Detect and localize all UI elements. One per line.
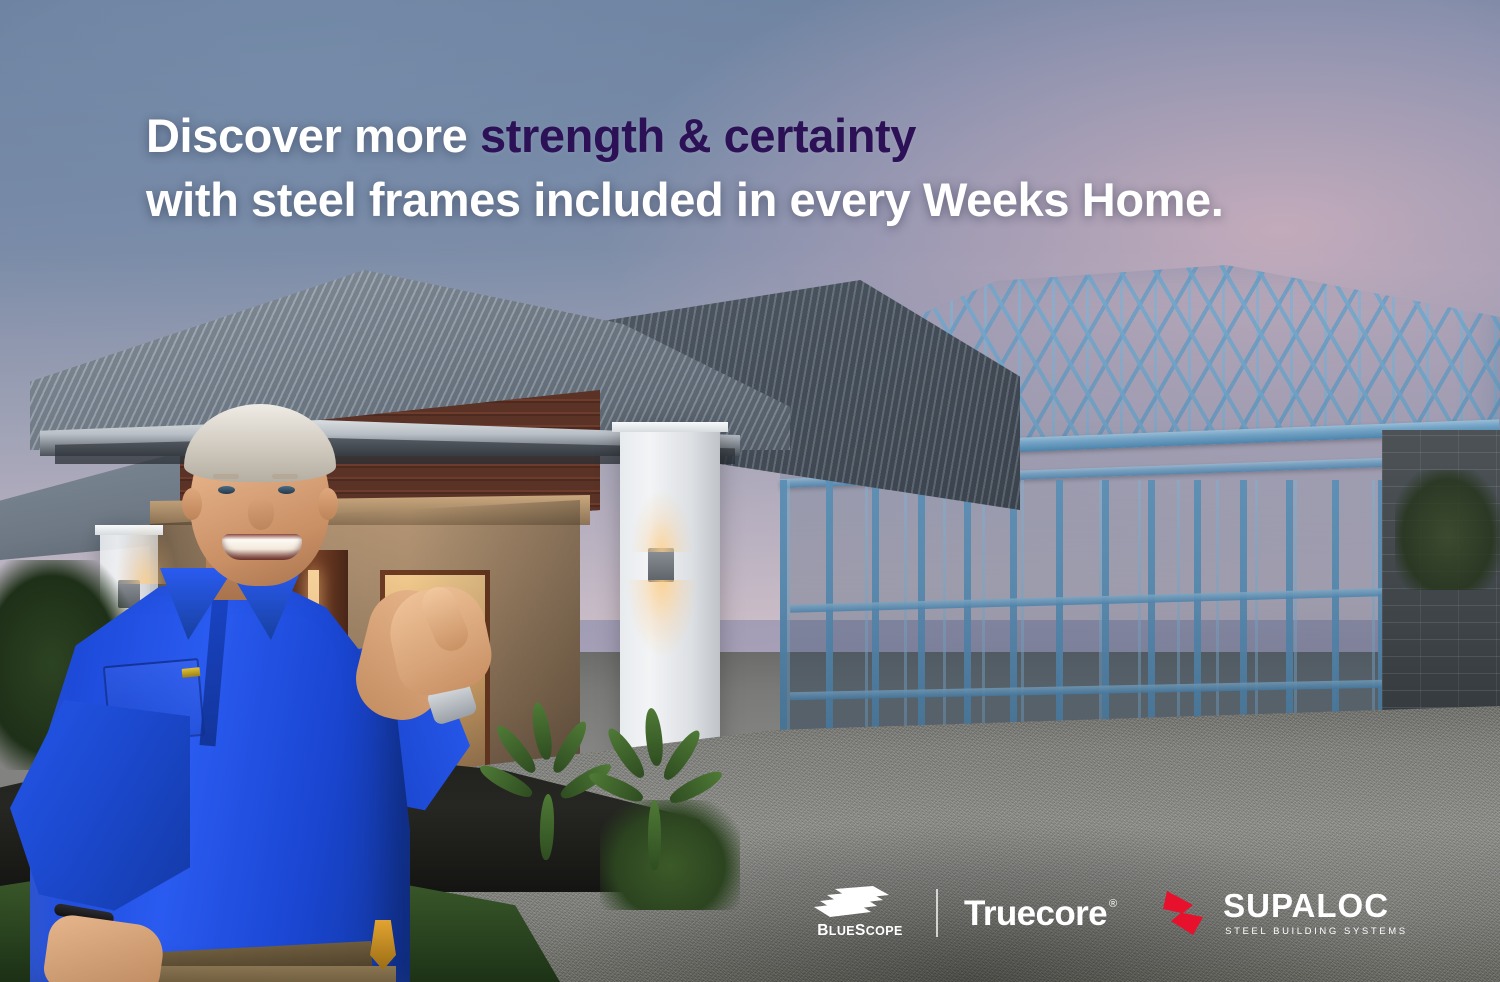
feature-plant-right — [596, 700, 726, 870]
supaloc-text-block: SUPALOC STEEL BUILDING SYSTEMS — [1223, 889, 1408, 937]
headline-line-1: Discover more strength & certainty — [146, 104, 1366, 168]
eyebrow-right — [272, 474, 298, 479]
advertisement-banner: Discover more strength & certainty with … — [0, 0, 1500, 982]
shirt-brand-tag — [182, 667, 201, 678]
supaloc-wordmark: SUPALOC — [1223, 889, 1408, 922]
headline: Discover more strength & certainty with … — [146, 104, 1366, 232]
ear-right — [318, 488, 338, 520]
eye-left — [218, 486, 235, 494]
supaloc-red-chevron-icon — [1163, 887, 1219, 939]
plant-leaf — [529, 701, 555, 761]
plant-stem — [648, 800, 661, 870]
headline-line-2: with steel frames included in every Week… — [146, 168, 1366, 232]
supaloc-logo: SUPALOC STEEL BUILDING SYSTEMS — [1163, 887, 1408, 939]
plant-leaf — [549, 718, 592, 776]
pillar-main-cap — [612, 422, 728, 432]
plant-leaf — [603, 724, 649, 781]
eye-right — [278, 486, 295, 494]
headline-line-1-plain: Discover more — [146, 109, 480, 162]
logo-divider — [936, 889, 938, 937]
background-tree-right — [1395, 470, 1500, 590]
ear-left — [182, 488, 202, 520]
wall-light-main — [648, 548, 674, 582]
headline-accent-phrase: strength & certainty — [480, 109, 916, 162]
bluescope-wave-diamond-icon — [813, 886, 907, 920]
person-builder — [10, 400, 480, 982]
nose — [248, 498, 274, 530]
plant-leaf — [659, 726, 705, 783]
eyebrow-left — [213, 474, 239, 479]
truecore-logo: Truecore ® — [964, 896, 1117, 931]
truecore-registered-icon: ® — [1109, 898, 1117, 910]
supaloc-tagline: STEEL BUILDING SYSTEMS — [1225, 926, 1408, 937]
partner-logo-bar: BLUESCOPE Truecore ® SUPALOC STEEL BUILD… — [810, 876, 1408, 950]
truecore-wordmark: Truecore — [964, 896, 1107, 931]
bluescope-logo: BLUESCOPE — [810, 886, 910, 940]
hair — [184, 404, 336, 482]
smiling-mouth — [222, 534, 302, 560]
bluescope-wordmark: BLUESCOPE — [817, 922, 903, 940]
plant-stem — [539, 794, 555, 860]
plant-leaf — [643, 707, 665, 766]
